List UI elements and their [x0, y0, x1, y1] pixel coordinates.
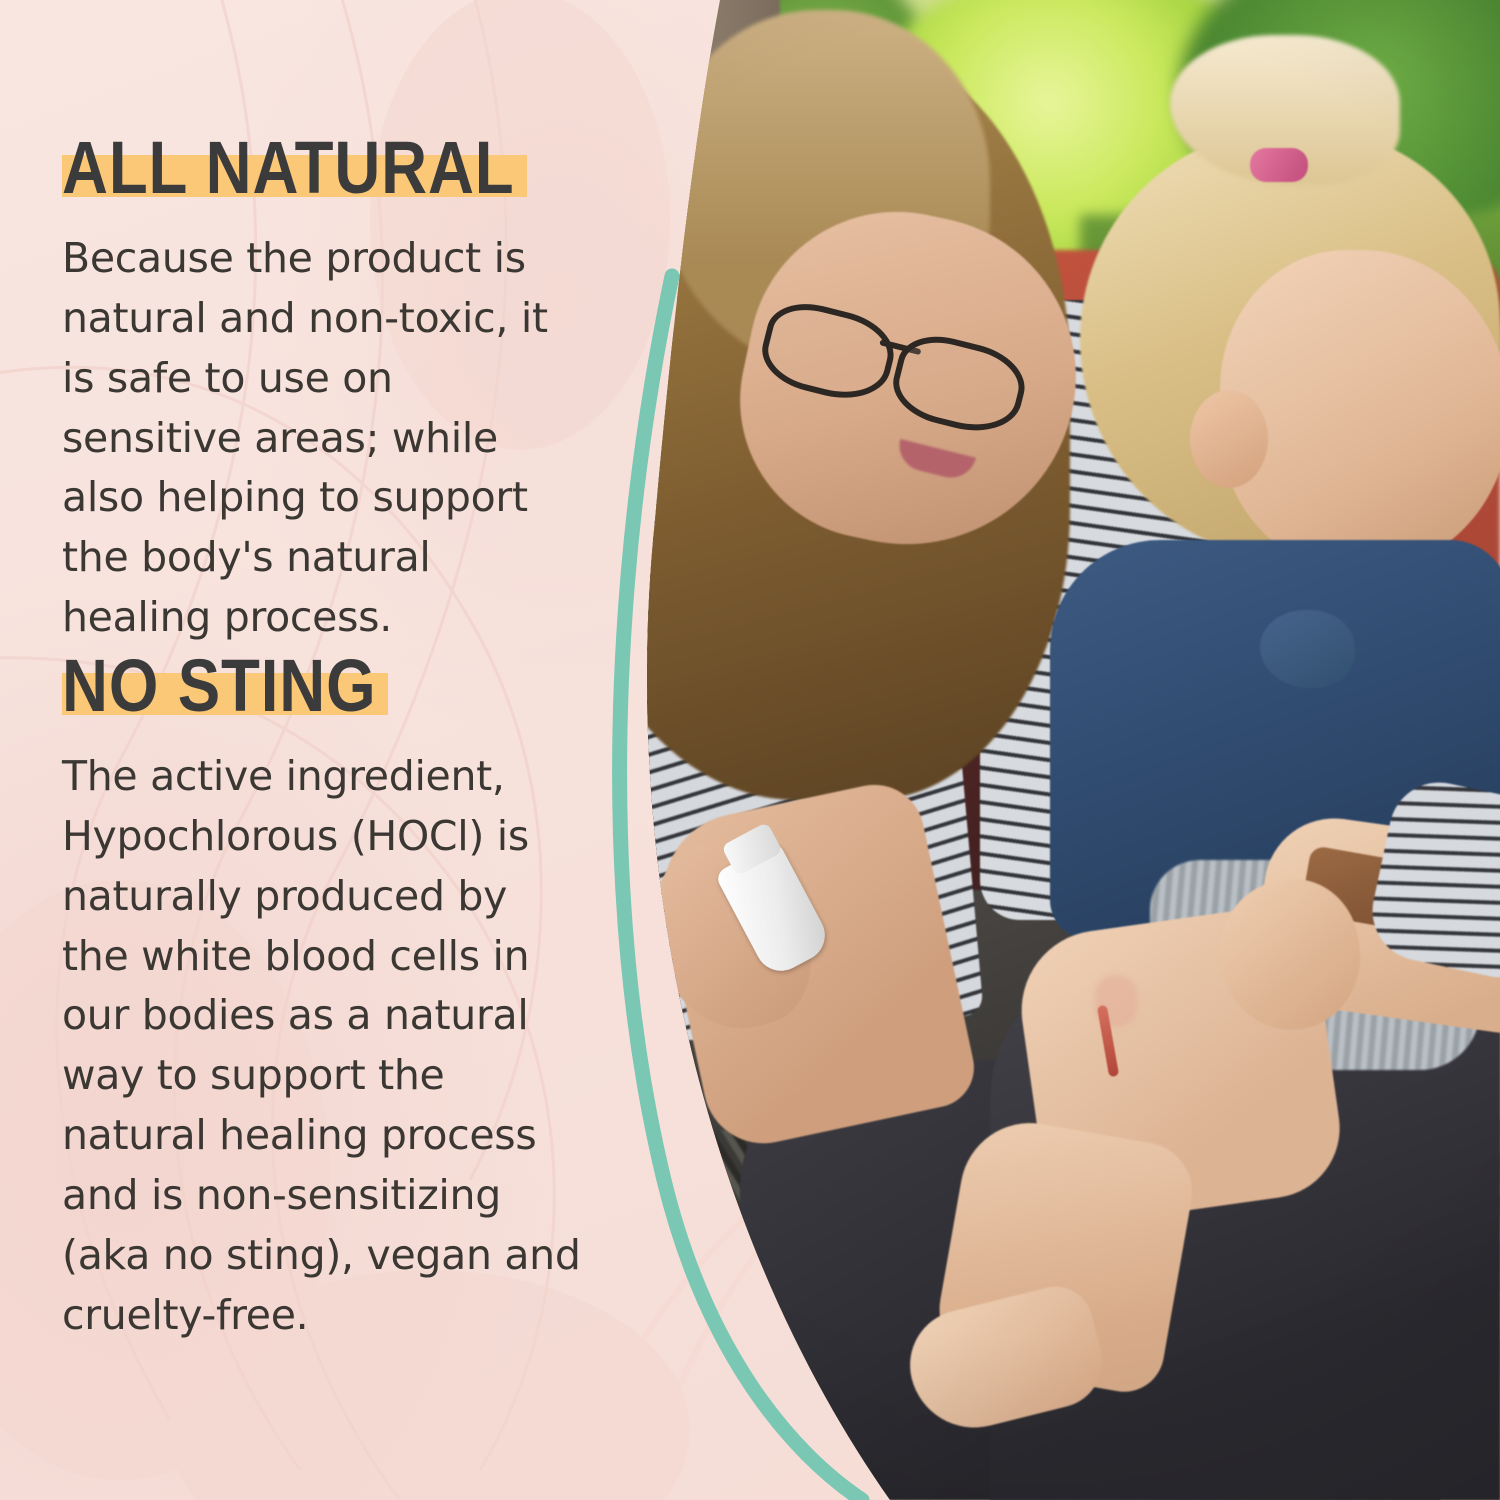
- section-heading: ALL NATURAL: [62, 132, 515, 203]
- text-column: ALL NATURAL Because the product is natur…: [0, 0, 620, 1500]
- heading-wrap-all-natural: ALL NATURAL: [62, 132, 588, 203]
- heading-wrap-no-sting: NO STING: [62, 650, 428, 721]
- section-no-sting: NO STING The active ingredient, Hypochlo…: [62, 650, 582, 1346]
- section-body-text: The active ingredient, Hypochlorous (HOC…: [62, 747, 582, 1346]
- section-heading: NO STING: [62, 650, 376, 721]
- infographic-canvas: ALL NATURAL Because the product is natur…: [0, 0, 1500, 1500]
- section-body-text: Because the product is natural and non-t…: [62, 229, 582, 648]
- section-all-natural: ALL NATURAL Because the product is natur…: [62, 132, 582, 648]
